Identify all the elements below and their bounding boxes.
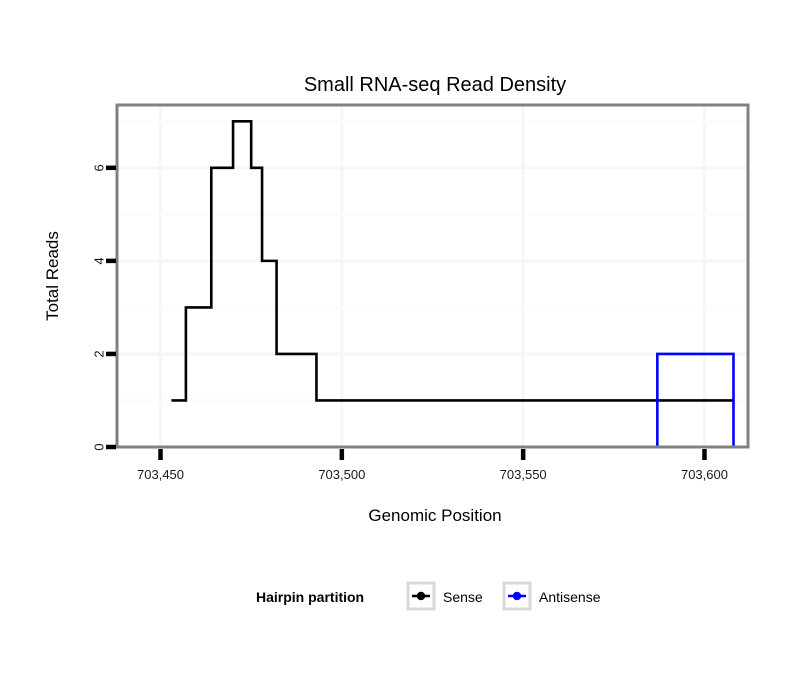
legend-label-sense: Sense (443, 589, 483, 605)
legend-title: Hairpin partition (256, 589, 364, 605)
x-tick-label-2: 703,550 (500, 467, 547, 482)
chart-container: Small RNA-seq Read Density 0246 703,4507… (0, 0, 810, 690)
x-axis-title: Genomic Position (368, 506, 501, 525)
y-tick-label-3: 6 (91, 164, 106, 171)
legend-label-antisense: Antisense (539, 589, 601, 605)
x-tick-label-0: 703,450 (137, 467, 184, 482)
legend-key-point (417, 592, 425, 600)
legend-key-point (513, 592, 521, 600)
y-tick-label-2: 4 (91, 257, 106, 264)
read-density-chart: Small RNA-seq Read Density 0246 703,4507… (0, 0, 810, 690)
chart-title: Small RNA-seq Read Density (304, 74, 566, 96)
y-tick-label-0: 0 (91, 443, 106, 450)
y-axis-title: Total Reads (43, 231, 62, 321)
x-tick-label-3: 703,600 (681, 467, 728, 482)
y-tick-label-1: 2 (91, 350, 106, 357)
x-tick-label-1: 703,500 (318, 467, 365, 482)
